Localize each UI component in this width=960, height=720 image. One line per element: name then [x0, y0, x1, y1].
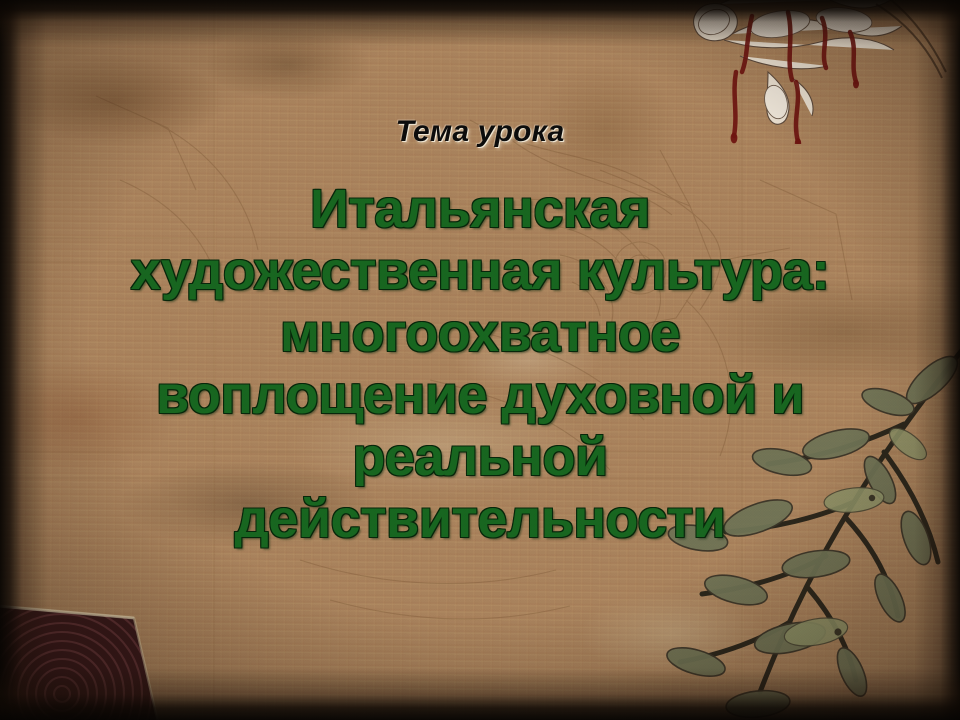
- spiral-ornament-icon: [0, 590, 196, 720]
- headline-line-6: действительности: [0, 488, 960, 550]
- headline-line-3: многоохватное: [0, 302, 960, 364]
- headline-line-4: воплощение духовной и: [0, 364, 960, 426]
- slide-text-block: Тема урока Итальянская художественная ку…: [0, 112, 960, 550]
- slide-subtitle: Тема урока: [0, 112, 960, 152]
- headline-line-2: художественная культура:: [0, 240, 960, 302]
- slide-headline: Итальянская художественная культура: мно…: [0, 178, 960, 550]
- presentation-slide: Тема урока Итальянская художественная ку…: [0, 0, 960, 720]
- headline-line-5: реальной: [0, 426, 960, 488]
- headline-line-1: Итальянская: [0, 178, 960, 240]
